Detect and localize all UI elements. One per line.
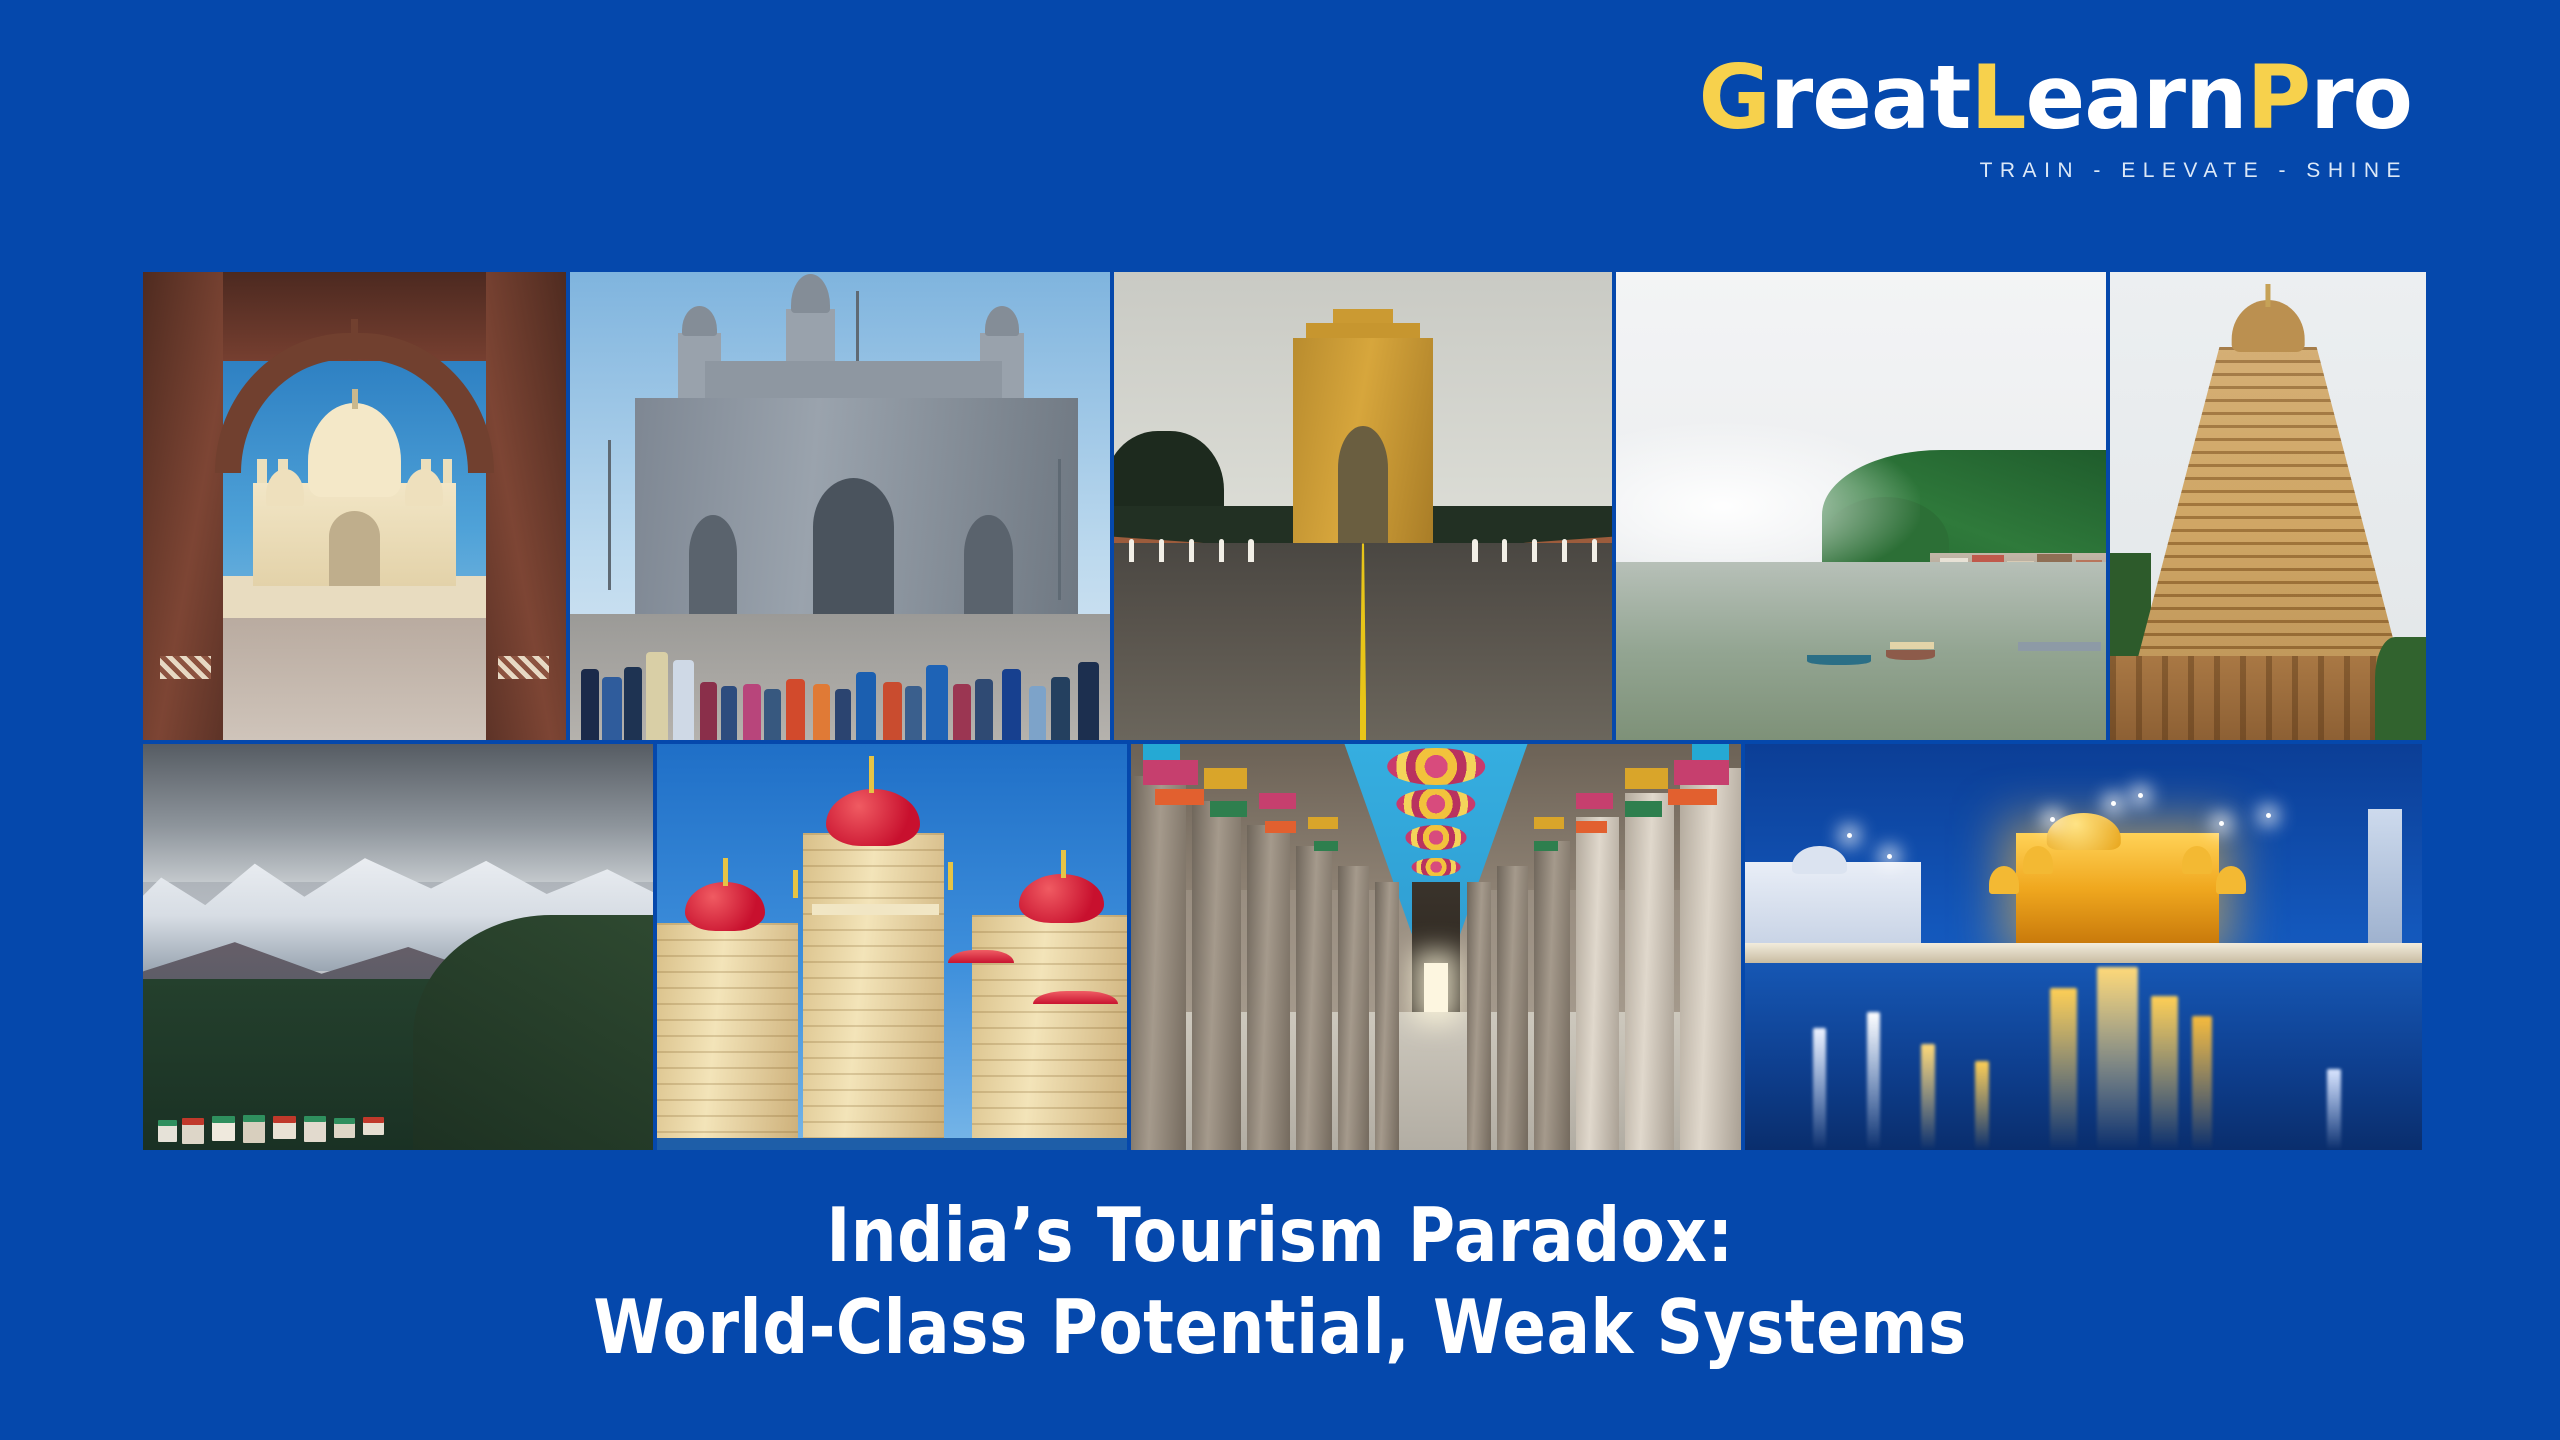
photo-mysore-palace: [657, 744, 1127, 1150]
logo-text-ro: ro: [2310, 46, 2412, 149]
image-collage: [143, 272, 2418, 1150]
poster-title: India’s Tourism Paradox: World-Class Pot…: [0, 1190, 2560, 1373]
collage-row-bottom: [143, 744, 2418, 1150]
logo-text-reat: reat: [1770, 46, 1971, 149]
logo-text-earn: earn: [2026, 46, 2247, 149]
photo-meenakshi-temple-corridor: [1131, 744, 1741, 1150]
collage-row-top: [143, 272, 2418, 740]
brand-logo[interactable]: GreatLearnPro TRAIN - ELEVATE - SHINE: [1699, 52, 2412, 181]
photo-taj-mahal-through-archway: [143, 272, 566, 740]
photo-gateway-of-india: [570, 272, 1110, 740]
poster-title-line-1: India’s Tourism Paradox:: [179, 1190, 2381, 1282]
photo-brihadeeswarar-temple-vimana: [2110, 272, 2426, 740]
poster-canvas: GreatLearnPro TRAIN - ELEVATE - SHINE: [0, 0, 2560, 1440]
logo-letter-p: P: [2247, 46, 2311, 149]
photo-misty-lake-hill-town: [1616, 272, 2106, 740]
logo-letter-l: L: [1970, 46, 2025, 149]
brand-tagline: TRAIN - ELEVATE - SHINE: [1699, 160, 2412, 181]
brand-logo-wordmark: GreatLearnPro: [1699, 52, 2412, 144]
poster-title-line-2: World-Class Potential, Weak Systems: [179, 1282, 2381, 1374]
photo-golden-temple-amritsar: [1745, 744, 2422, 1150]
photo-india-gate: [1114, 272, 1612, 740]
photo-himalayan-valley-manali: [143, 744, 653, 1150]
logo-letter-g: G: [1699, 46, 1770, 149]
